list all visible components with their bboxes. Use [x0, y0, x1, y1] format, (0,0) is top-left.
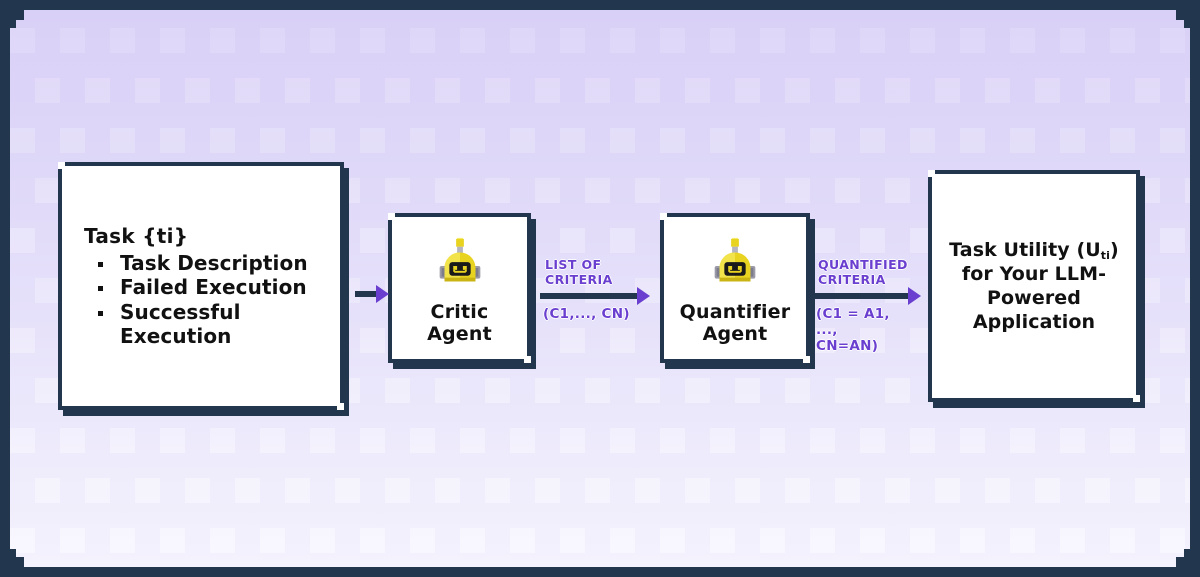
checker-square — [210, 28, 235, 53]
utility-subscript: ti — [1101, 249, 1110, 262]
checker-square — [535, 478, 560, 503]
checker-square — [860, 128, 885, 153]
checker-square — [135, 78, 160, 103]
checker-square — [110, 128, 135, 153]
utility-line-4: Application — [949, 310, 1119, 334]
checker-square — [435, 78, 460, 103]
checker-square — [510, 128, 535, 153]
checker-square — [785, 378, 810, 403]
checker-square — [860, 228, 885, 253]
bullet-icon — [98, 286, 103, 291]
checker-square — [185, 478, 210, 503]
checker-square — [660, 128, 685, 153]
checker-square — [260, 28, 285, 53]
checker-square — [235, 78, 260, 103]
checker-square — [935, 478, 960, 503]
checker-square — [560, 28, 585, 53]
checker-square — [1160, 328, 1185, 353]
checker-square — [560, 128, 585, 153]
checker-square — [485, 478, 510, 503]
arrow-label-line-2: CRITERIA — [818, 272, 908, 287]
checker-square — [460, 528, 485, 553]
agent-label-line-1: Quantifier — [680, 302, 791, 323]
arrow-label-line-2: CRITERIA — [545, 272, 613, 287]
checker-square — [335, 478, 360, 503]
checker-square — [1160, 28, 1185, 53]
checker-square — [960, 528, 985, 553]
checker-square — [585, 478, 610, 503]
checker-square — [435, 478, 460, 503]
checker-square — [785, 78, 810, 103]
checker-square — [10, 128, 35, 153]
frame-corner-step — [1184, 549, 1200, 577]
checker-square — [635, 78, 660, 103]
checker-square — [1185, 178, 1190, 203]
checker-square — [360, 228, 385, 253]
checker-square — [735, 378, 760, 403]
checker-square — [410, 28, 435, 53]
checker-square — [360, 528, 385, 553]
checker-square — [835, 378, 860, 403]
checker-square — [635, 178, 660, 203]
node-task-utility[interactable]: Task Utility (Uti) for Your LLM- Powered… — [928, 170, 1140, 402]
checker-square — [1060, 128, 1085, 153]
checker-square — [860, 28, 885, 53]
frame-corner-step — [0, 0, 16, 28]
checker-square — [810, 428, 835, 453]
checker-square — [1160, 428, 1185, 453]
diagram-root: Task {ti} Task Description Failed Execut… — [0, 0, 1200, 577]
checker-square — [910, 128, 935, 153]
checker-square — [735, 78, 760, 103]
task-utility-text: Task Utility (Uti) for Your LLM- Powered… — [949, 238, 1119, 335]
frame-corner-step — [0, 549, 16, 577]
checker-square — [60, 528, 85, 553]
checker-square — [585, 78, 610, 103]
checker-square — [160, 528, 185, 553]
checker-square — [35, 278, 60, 303]
checker-square — [960, 128, 985, 153]
checker-square — [710, 128, 735, 153]
utility-line-3: Powered — [949, 286, 1119, 310]
checker-square — [685, 178, 710, 203]
checker-square — [535, 78, 560, 103]
checker-square — [85, 478, 110, 503]
bullet-icon — [98, 311, 103, 316]
checker-square — [535, 378, 560, 403]
checker-square — [1035, 78, 1060, 103]
checker-square — [410, 428, 435, 453]
checker-square — [160, 128, 185, 153]
arrow-head-icon — [637, 287, 650, 305]
checker-square — [810, 228, 835, 253]
checker-square — [310, 28, 335, 53]
checker-square — [460, 428, 485, 453]
checker-square — [385, 478, 410, 503]
checker-square — [35, 378, 60, 403]
checker-square — [85, 78, 110, 103]
arrow-sublabel-line-2: CN=AN) — [816, 338, 916, 354]
checker-square — [185, 78, 210, 103]
checker-square — [685, 78, 710, 103]
checker-square — [60, 128, 85, 153]
robot-icon — [429, 235, 491, 297]
checker-square — [585, 178, 610, 203]
checker-square — [910, 28, 935, 53]
arrow-label-line-1: LIST OF — [545, 257, 613, 272]
checker-square — [610, 128, 635, 153]
checker-square — [835, 478, 860, 503]
checker-square — [710, 428, 735, 453]
arrow-shaft — [540, 293, 638, 299]
checker-square — [735, 178, 760, 203]
checker-square — [510, 28, 535, 53]
utility-line-1-suffix: ) — [1110, 239, 1119, 261]
checker-square — [960, 428, 985, 453]
node-quantifier-agent[interactable]: Quantifier Agent — [660, 213, 810, 363]
checker-square — [560, 228, 585, 253]
checker-square — [1110, 428, 1135, 453]
checker-square — [635, 478, 660, 503]
checker-square — [410, 528, 435, 553]
checker-square — [1060, 28, 1085, 53]
checker-square — [1135, 78, 1160, 103]
checker-square — [1085, 78, 1110, 103]
arrow-label-quantified-criteria: QUANTIFIED CRITERIA — [818, 257, 908, 288]
checker-square — [110, 428, 135, 453]
arrow-shaft — [355, 291, 377, 297]
checker-square — [110, 28, 135, 53]
checker-square — [1185, 78, 1190, 103]
checker-square — [110, 528, 135, 553]
checker-square — [635, 378, 660, 403]
checker-square — [1010, 28, 1035, 53]
checker-square — [560, 428, 585, 453]
node-critic-agent[interactable]: Critic Agent — [388, 213, 531, 363]
checker-square — [785, 478, 810, 503]
checker-square — [510, 528, 535, 553]
checker-square — [760, 28, 785, 53]
checker-square — [1060, 528, 1085, 553]
checker-square — [435, 178, 460, 203]
arrow-head-icon — [908, 287, 921, 305]
checker-square — [410, 128, 435, 153]
checker-square — [1010, 128, 1035, 153]
checker-square — [1185, 478, 1190, 503]
checker-square — [1110, 528, 1135, 553]
node-quantifier-agent-label: Quantifier Agent — [680, 302, 791, 345]
checker-square — [710, 528, 735, 553]
checker-square — [885, 178, 910, 203]
checker-square — [885, 378, 910, 403]
arrow-sublabel-quantified-values: (C1 = A1, ..., CN=AN) — [816, 306, 916, 355]
agent-label-line-2: Agent — [680, 324, 791, 345]
checker-square — [610, 228, 635, 253]
checker-square — [310, 428, 335, 453]
checker-square — [585, 378, 610, 403]
checker-square — [35, 178, 60, 203]
checker-square — [60, 28, 85, 53]
checker-square — [260, 428, 285, 453]
checker-square — [460, 128, 485, 153]
checker-square — [885, 78, 910, 103]
checker-square — [210, 128, 235, 153]
checker-square — [1110, 28, 1135, 53]
utility-line-1: Task Utility (Uti) — [949, 238, 1119, 262]
checker-square — [760, 128, 785, 153]
checker-square — [160, 428, 185, 453]
checker-square — [710, 28, 735, 53]
checker-square — [10, 28, 35, 53]
checker-square — [160, 28, 185, 53]
checker-square — [310, 128, 335, 153]
agent-label-line-2: Agent — [427, 324, 492, 345]
checker-square — [610, 528, 635, 553]
checker-square — [1135, 478, 1160, 503]
checker-square — [810, 28, 835, 53]
checker-square — [610, 328, 635, 353]
checker-square — [1160, 228, 1185, 253]
checker-square — [610, 428, 635, 453]
checker-square — [935, 78, 960, 103]
arrow-sublabel-line-1: (C1 = A1, ..., — [816, 306, 916, 338]
checker-square — [210, 528, 235, 553]
utility-line-2: for Your LLM- — [949, 262, 1119, 286]
bullet-icon — [98, 262, 103, 267]
checker-square — [35, 78, 60, 103]
list-item-label: Failed Execution — [120, 275, 307, 299]
checker-square — [385, 78, 410, 103]
checker-square — [810, 128, 835, 153]
diagram-canvas: Task {ti} Task Description Failed Execut… — [10, 10, 1190, 567]
checker-square — [285, 478, 310, 503]
checker-square — [435, 378, 460, 403]
node-task[interactable]: Task {ti} Task Description Failed Execut… — [58, 162, 344, 410]
checker-square — [335, 78, 360, 103]
list-item: Task Description — [84, 251, 322, 275]
checker-square — [835, 78, 860, 103]
checker-square — [885, 478, 910, 503]
checker-square — [1035, 478, 1060, 503]
list-item: Failed Execution — [84, 275, 322, 299]
checker-square — [10, 328, 35, 353]
arrow-label-list-of-criteria: LIST OF CRITERIA — [545, 257, 613, 288]
checker-square — [985, 78, 1010, 103]
checker-square — [235, 478, 260, 503]
arrow-shaft — [813, 293, 909, 299]
checker-square — [860, 428, 885, 453]
checker-square — [1185, 378, 1190, 403]
checker-square — [685, 378, 710, 403]
checker-square — [1010, 428, 1035, 453]
checker-square — [560, 528, 585, 553]
checker-square — [685, 478, 710, 503]
checker-square — [10, 228, 35, 253]
checker-square — [310, 528, 335, 553]
checker-square — [810, 528, 835, 553]
checker-square — [910, 428, 935, 453]
checker-square — [360, 428, 385, 453]
checker-square — [360, 128, 385, 153]
checker-square — [135, 478, 160, 503]
arrow-head-icon — [376, 285, 389, 303]
checker-square — [785, 178, 810, 203]
checker-square — [835, 178, 860, 203]
arrow-label-line-1: QUANTIFIED — [818, 257, 908, 272]
checker-square — [660, 28, 685, 53]
list-item: Successful Execution — [84, 300, 322, 349]
checker-square — [1010, 528, 1035, 553]
checker-square — [960, 28, 985, 53]
task-item-list: Task Description Failed Execution Succes… — [84, 251, 322, 349]
checker-square — [660, 428, 685, 453]
checker-square — [460, 28, 485, 53]
checker-square — [60, 428, 85, 453]
checker-square — [1060, 428, 1085, 453]
list-item-label: Task Description — [120, 251, 308, 275]
checker-square — [1160, 128, 1185, 153]
checker-square — [910, 528, 935, 553]
utility-line-1-prefix: Task Utility (U — [949, 239, 1101, 261]
checker-square — [760, 528, 785, 553]
checker-square — [360, 28, 385, 53]
checker-square — [210, 428, 235, 453]
checker-square — [735, 478, 760, 503]
checker-square — [760, 428, 785, 453]
checker-square — [1160, 528, 1185, 553]
robot-icon — [704, 235, 766, 297]
checker-square — [285, 78, 310, 103]
checker-square — [1110, 128, 1135, 153]
checker-square — [385, 178, 410, 203]
list-item-label: Successful Execution — [120, 300, 241, 348]
frame-corner-step — [1184, 0, 1200, 28]
checker-square — [260, 528, 285, 553]
checker-square — [510, 428, 535, 453]
checker-square — [1185, 278, 1190, 303]
checker-square — [10, 428, 35, 453]
checker-square — [985, 478, 1010, 503]
checker-square — [535, 178, 560, 203]
checker-square — [360, 328, 385, 353]
checker-square — [485, 78, 510, 103]
checker-square — [260, 128, 285, 153]
task-title: Task {ti} — [84, 224, 188, 249]
node-critic-agent-label: Critic Agent — [427, 302, 492, 345]
checker-square — [560, 328, 585, 353]
checker-square — [1085, 478, 1110, 503]
checker-square — [660, 528, 685, 553]
agent-label-line-1: Critic — [427, 302, 492, 323]
checker-square — [385, 378, 410, 403]
checker-square — [485, 178, 510, 203]
checker-square — [860, 528, 885, 553]
checker-square — [610, 28, 635, 53]
checker-square — [35, 478, 60, 503]
checker-square — [485, 378, 510, 403]
arrow-sublabel-criteria-list: (C1,..., CN) — [543, 306, 630, 322]
